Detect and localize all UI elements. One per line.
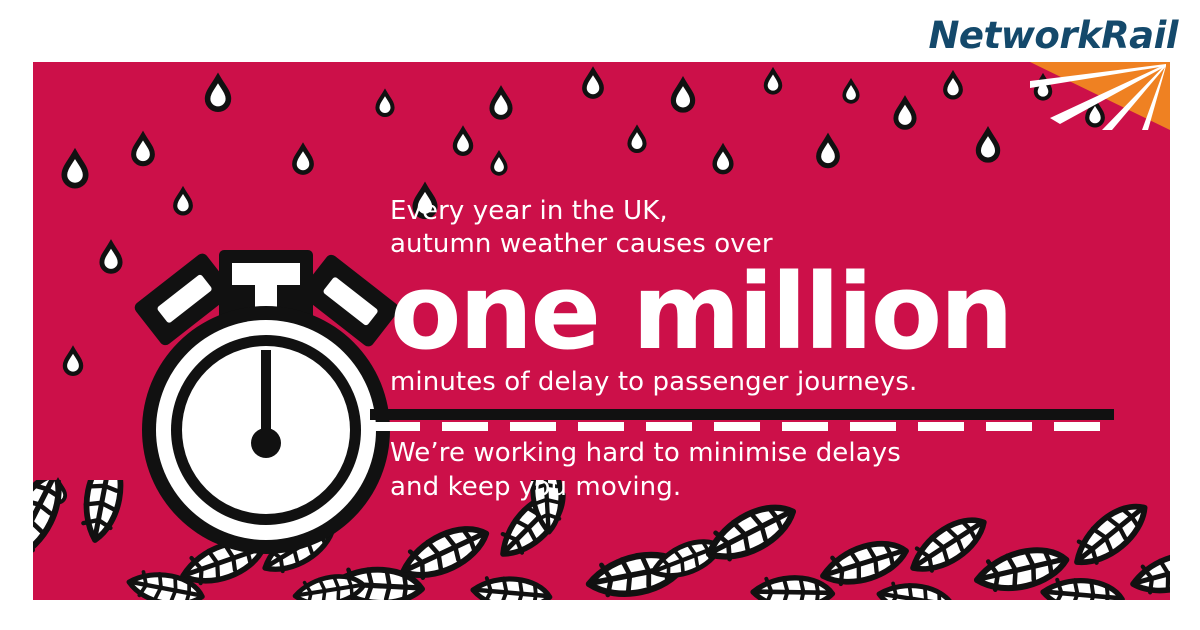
divider-dash xyxy=(510,422,556,431)
divider-dash xyxy=(442,422,488,431)
divider-dash xyxy=(578,422,624,431)
pink-background-panel: Every year in the UK, autumn weather cau… xyxy=(33,62,1170,600)
divider-dash xyxy=(850,422,896,431)
dashed-road-divider xyxy=(370,409,1114,431)
divider-dash xyxy=(1054,422,1100,431)
headline: one million xyxy=(390,263,1130,362)
divider-bar xyxy=(370,409,1114,420)
divider-dash xyxy=(646,422,692,431)
divider-dash xyxy=(714,422,760,431)
network-rail-converging-tracks-mark xyxy=(1030,62,1170,130)
logo-wordmark: NetworkRail xyxy=(928,14,1178,57)
copy-layer: Every year in the UK, autumn weather cau… xyxy=(33,62,1170,600)
sub-line: minutes of delay to passenger journeys. xyxy=(390,366,1130,399)
divider-dash xyxy=(918,422,964,431)
divider-dash xyxy=(986,422,1032,431)
lead-line-1: Every year in the UK, xyxy=(390,195,1130,228)
divider-dashes xyxy=(374,422,1114,431)
divider-dash xyxy=(782,422,828,431)
outro-line-1: We’re working hard to minimise delays xyxy=(390,437,1130,471)
outro-line-2: and keep you moving. xyxy=(390,471,1130,505)
infographic-canvas: Every year in the UK, autumn weather cau… xyxy=(0,0,1200,630)
divider-dash xyxy=(374,422,420,431)
message-block: Every year in the UK, autumn weather cau… xyxy=(390,195,1130,504)
network-rail-logo[interactable]: NetworkRail xyxy=(930,0,1200,130)
